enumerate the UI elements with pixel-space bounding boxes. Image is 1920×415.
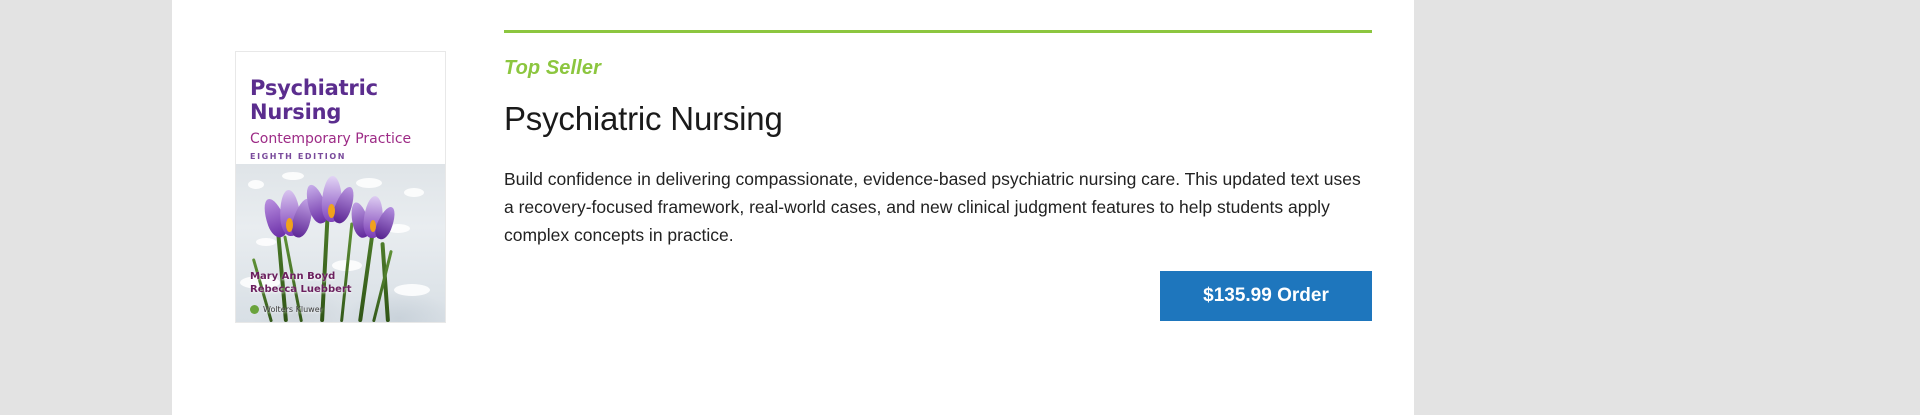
accent-rule <box>504 30 1372 33</box>
cover-photo-crocus <box>236 164 445 322</box>
cover-author-2: Rebecca Luebbert <box>250 283 352 296</box>
order-button[interactable]: $135.99 Order <box>1160 271 1372 321</box>
book-cover-image: Psychiatric Nursing Contemporary Practic… <box>236 52 445 322</box>
cover-authors: Mary Ann Boyd Rebecca Luebbert <box>250 270 352 296</box>
cover-title-line2: Nursing <box>250 100 435 124</box>
promo-detail: Top Seller Psychiatric Nursing Build con… <box>504 30 1372 267</box>
top-seller-badge: Top Seller <box>504 57 1372 80</box>
cta-row: $135.99 Order <box>504 271 1372 321</box>
book-promo-card: Psychiatric Nursing Contemporary Practic… <box>172 0 1414 415</box>
cover-edition: EIGHTH EDITION <box>250 152 346 161</box>
content-card: Psychiatric Nursing Contemporary Practic… <box>172 0 1414 415</box>
cover-publisher: Wolters Kluwer <box>250 305 323 314</box>
cover-title: Psychiatric Nursing <box>250 76 435 124</box>
book-cover[interactable]: Psychiatric Nursing Contemporary Practic… <box>236 52 445 322</box>
cover-title-line1: Psychiatric <box>250 76 435 100</box>
promo-page: Psychiatric Nursing Contemporary Practic… <box>0 0 1920 415</box>
book-description: Build confidence in delivering compassio… <box>504 165 1366 249</box>
page-title: Psychiatric Nursing <box>504 100 1372 138</box>
cover-subtitle: Contemporary Practice <box>250 131 440 147</box>
cover-publisher-label: Wolters Kluwer <box>263 305 323 314</box>
wolters-kluwer-logo-icon <box>250 305 259 314</box>
cover-author-1: Mary Ann Boyd <box>250 270 352 283</box>
